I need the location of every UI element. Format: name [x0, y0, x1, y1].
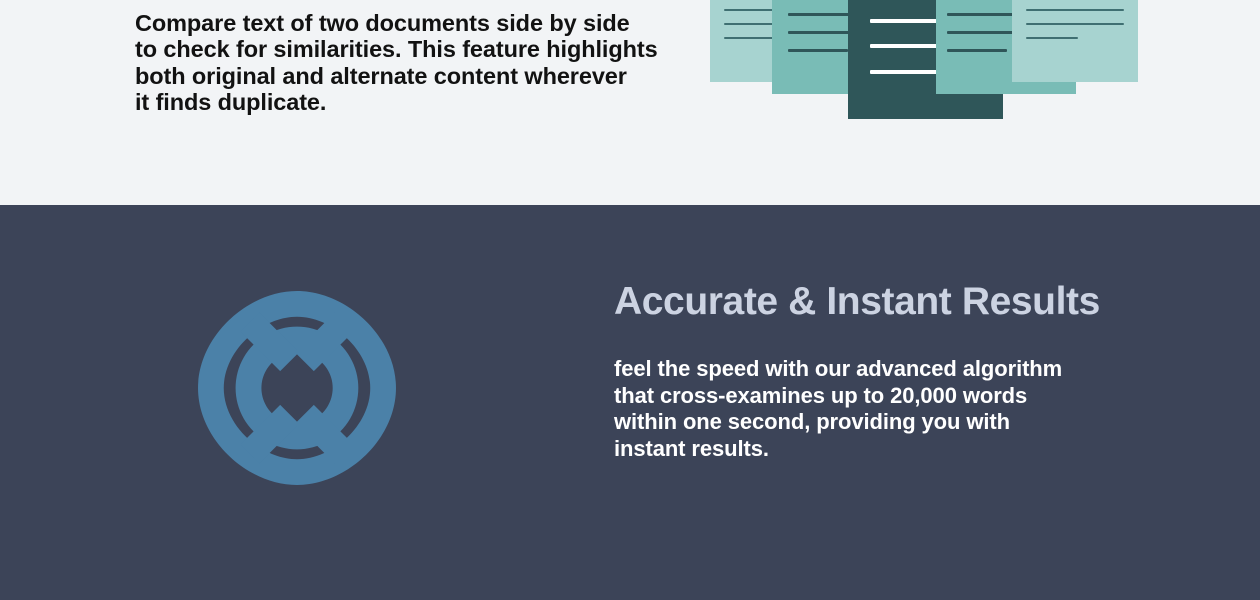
compare-documents-description: Compare text of two documents side by si… — [135, 10, 675, 116]
accurate-instant-results-section: Accurate & Instant Results feel the spee… — [0, 205, 1260, 600]
results-description: feel the speed with our advanced algorit… — [614, 324, 1134, 462]
compare-documents-section: Compare text of two documents side by si… — [0, 0, 1260, 205]
document-text-line — [788, 49, 848, 52]
lifebuoy-icon — [198, 291, 396, 485]
document-text-line — [1026, 23, 1124, 25]
document-text-line — [947, 49, 1007, 52]
results-text-block: Accurate & Instant Results feel the spee… — [614, 280, 1134, 462]
document-card-far-right — [1012, 0, 1138, 82]
document-text-line — [1026, 37, 1078, 39]
document-text-line — [1026, 9, 1124, 11]
side-by-side-documents-illustration — [710, 0, 1138, 120]
document-text-line — [724, 37, 776, 39]
results-heading: Accurate & Instant Results — [614, 280, 1134, 324]
landing-page: Compare text of two documents side by si… — [0, 0, 1260, 600]
